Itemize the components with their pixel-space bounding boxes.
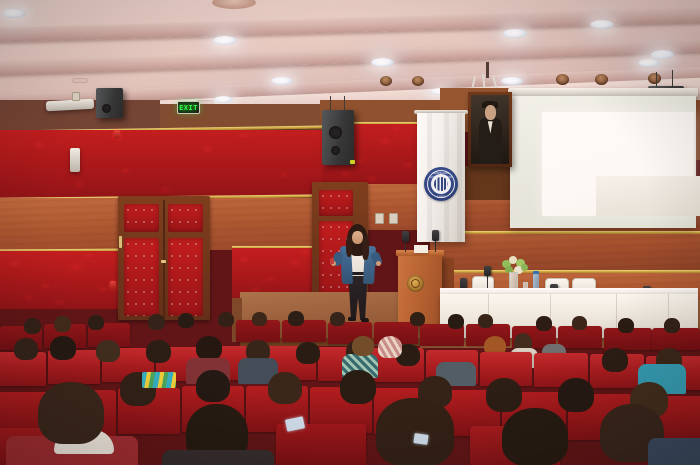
fire-alarm-icon — [110, 281, 116, 290]
hanging-speaker — [322, 110, 354, 165]
ceiling-spot-can — [556, 74, 569, 85]
audience-head — [38, 382, 104, 444]
audience-head — [14, 338, 38, 360]
table-microphone — [484, 266, 491, 276]
door-handle[interactable] — [161, 260, 166, 263]
ceiling-light — [638, 59, 660, 67]
ceiling-light — [371, 58, 394, 67]
ceiling-light — [214, 96, 233, 103]
audience-head — [296, 342, 320, 364]
presenter-shoe — [348, 317, 356, 321]
podium-microphone — [402, 231, 409, 242]
audience-head — [88, 315, 104, 330]
ceiling-light — [651, 50, 674, 59]
ceiling-light — [501, 77, 523, 85]
audience-head — [252, 312, 267, 326]
audience-shoulders — [648, 438, 700, 465]
ceiling-spot-can — [648, 73, 661, 84]
speaker-led — [350, 160, 355, 164]
audience-head — [218, 312, 234, 327]
ceiling-light — [213, 36, 237, 45]
ceiling-spot-can — [412, 76, 424, 86]
audience-head — [410, 312, 425, 326]
fire-alarm-icon — [114, 130, 120, 139]
presenter-hair — [346, 236, 352, 257]
wall-recess — [464, 166, 512, 200]
presenter-hand — [376, 261, 381, 266]
door-panel-upper — [319, 190, 353, 216]
audience-head — [330, 312, 345, 326]
wall-fabric-panel — [0, 130, 330, 198]
door-left-double[interactable] — [118, 196, 210, 320]
audience-head — [536, 316, 552, 331]
ceiling-light — [590, 20, 614, 29]
exit-sign-label: EXIT — [179, 104, 198, 112]
audience-head — [618, 318, 634, 333]
ceiling-light — [271, 77, 293, 85]
wall-outlet — [375, 213, 384, 224]
audience-phone-screen — [413, 433, 428, 445]
ceiling-vent — [72, 78, 88, 83]
door-center-mullion — [163, 200, 165, 318]
marmara-university-logo: MARMARA UNIVERSITESI 1883 — [424, 167, 458, 201]
audience-head — [148, 314, 165, 330]
ceiling-light — [503, 29, 527, 38]
logo-year-text: 1883 — [424, 195, 458, 199]
ceiling-light — [2, 9, 26, 18]
door-panel-upper-left — [124, 204, 159, 232]
ceiling-spot-can — [595, 74, 608, 85]
auditorium-photo: EXIT — [0, 0, 700, 465]
wall-junction-box — [72, 92, 80, 101]
door-panel-upper-right — [168, 204, 203, 232]
podium-papers — [414, 245, 428, 253]
audience-head — [340, 370, 376, 404]
audience-head — [146, 340, 171, 363]
side-table-cloth — [596, 176, 700, 216]
exit-sign: EXIT — [177, 101, 200, 114]
door-panel-lower-left — [124, 238, 159, 316]
projector-mount-pole — [486, 62, 489, 78]
audience-head — [96, 340, 120, 362]
audience-head — [50, 336, 76, 360]
portrait-frame — [468, 92, 512, 167]
audience-headscarf — [378, 336, 402, 358]
ceiling-spot-can — [380, 76, 392, 86]
audience-colorful-item — [142, 372, 176, 388]
gold-trim — [430, 270, 700, 273]
wall-wood-panel — [430, 234, 700, 270]
audience-head — [268, 372, 302, 404]
audience-head — [448, 314, 464, 329]
audience-head — [558, 378, 594, 412]
wall-fabric-panel — [0, 251, 120, 309]
podium-microphone — [432, 230, 439, 241]
wall-speaker — [96, 88, 123, 118]
podium-emblem — [407, 275, 424, 292]
presenter-hair — [362, 236, 369, 260]
wall-outlet — [389, 213, 398, 224]
door-hinge — [119, 236, 122, 248]
audience-head — [196, 336, 222, 360]
audience-head — [664, 318, 680, 333]
audience-head — [178, 313, 194, 328]
audience-head — [24, 318, 41, 334]
audience-head — [54, 316, 71, 332]
door-panel-lower-right — [168, 238, 203, 316]
audience-head — [502, 408, 568, 465]
ataturk-portrait — [471, 95, 509, 164]
audience-head — [352, 336, 374, 356]
audience-head — [478, 314, 493, 328]
audience-head — [486, 378, 522, 412]
wall-light-fixture — [70, 148, 80, 172]
audience-head — [288, 311, 304, 326]
audience-head — [196, 370, 230, 402]
audience-head — [572, 316, 587, 330]
audience-head — [376, 398, 454, 465]
audience-head — [602, 348, 628, 372]
audience-shoulders — [162, 450, 274, 465]
presentation-clicker — [330, 258, 334, 264]
